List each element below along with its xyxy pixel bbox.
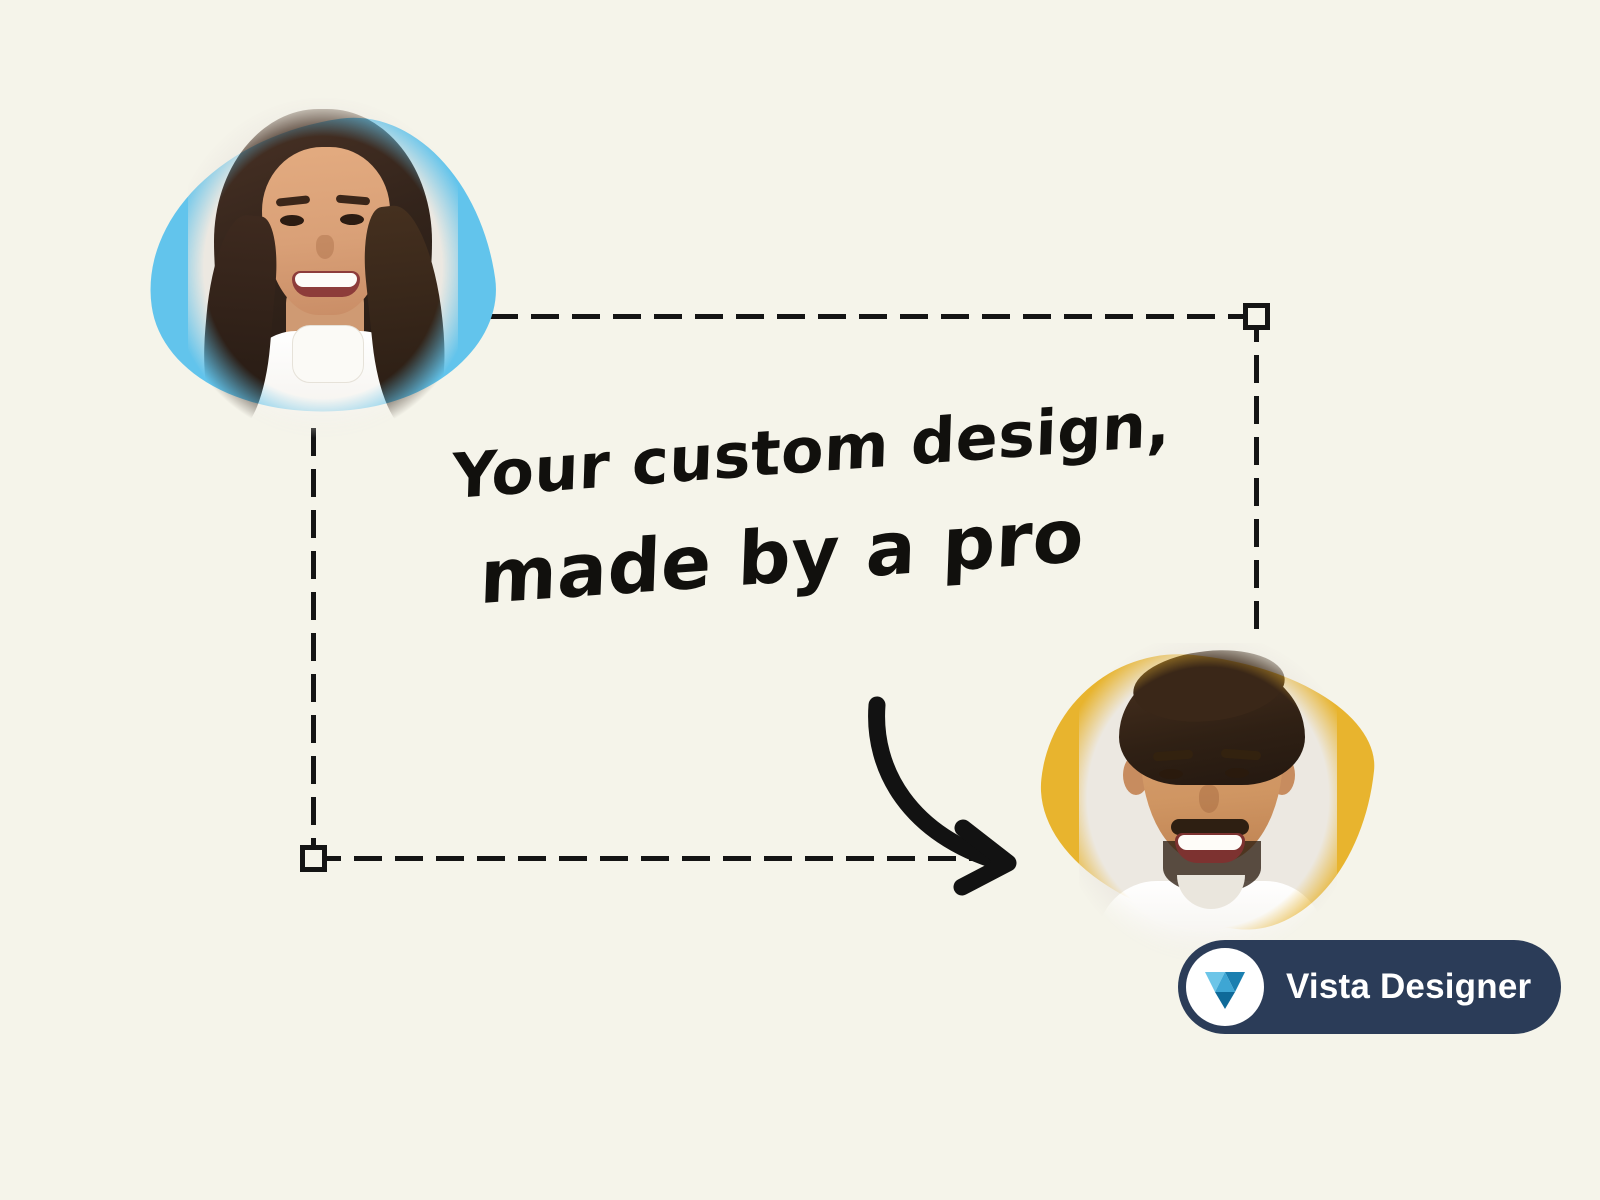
sparkle-group — [1280, 120, 1430, 280]
woman-portrait-card[interactable] — [140, 95, 500, 440]
woman-teeth — [295, 273, 357, 287]
man-portrait-card[interactable] — [1035, 635, 1380, 965]
vista-v-logo-icon — [1197, 959, 1253, 1015]
vista-designer-label: Vista Designer — [1286, 967, 1531, 1007]
man-eye-right — [1225, 768, 1249, 778]
woman-smile — [292, 271, 360, 297]
man-portrait-photo — [1079, 643, 1337, 965]
vista-designer-badge[interactable]: Vista Designer — [1178, 940, 1561, 1034]
promo-canvas: Your custom design, made by a pro — [0, 0, 1600, 1200]
man-eye-left — [1159, 769, 1183, 779]
selection-frame-left-edge[interactable] — [311, 428, 316, 858]
headline-line-2: made by a pro — [478, 489, 1129, 621]
woman-eye-right — [340, 214, 364, 225]
sparkle-large-icon — [1328, 162, 1428, 282]
selection-frame-right-edge[interactable] — [1254, 314, 1259, 642]
man-nose — [1199, 785, 1219, 813]
curved-arrow-icon — [820, 650, 1050, 910]
man-teeth — [1178, 835, 1242, 850]
headline-line-1: Your custom design, — [451, 390, 1129, 513]
headline-block: Your custom design, made by a pro — [430, 440, 1130, 621]
selection-frame-top-edge[interactable] — [490, 314, 1258, 319]
selection-handle-bottom-left[interactable] — [300, 845, 327, 872]
woman-nose — [316, 235, 334, 259]
woman-eye-left — [280, 215, 304, 226]
vista-logo-circle — [1186, 948, 1264, 1026]
woman-turtleneck-collar — [292, 325, 364, 383]
man-smile — [1175, 833, 1245, 863]
woman-portrait-photo — [188, 95, 458, 440]
selection-handle-top-right[interactable] — [1243, 303, 1270, 330]
